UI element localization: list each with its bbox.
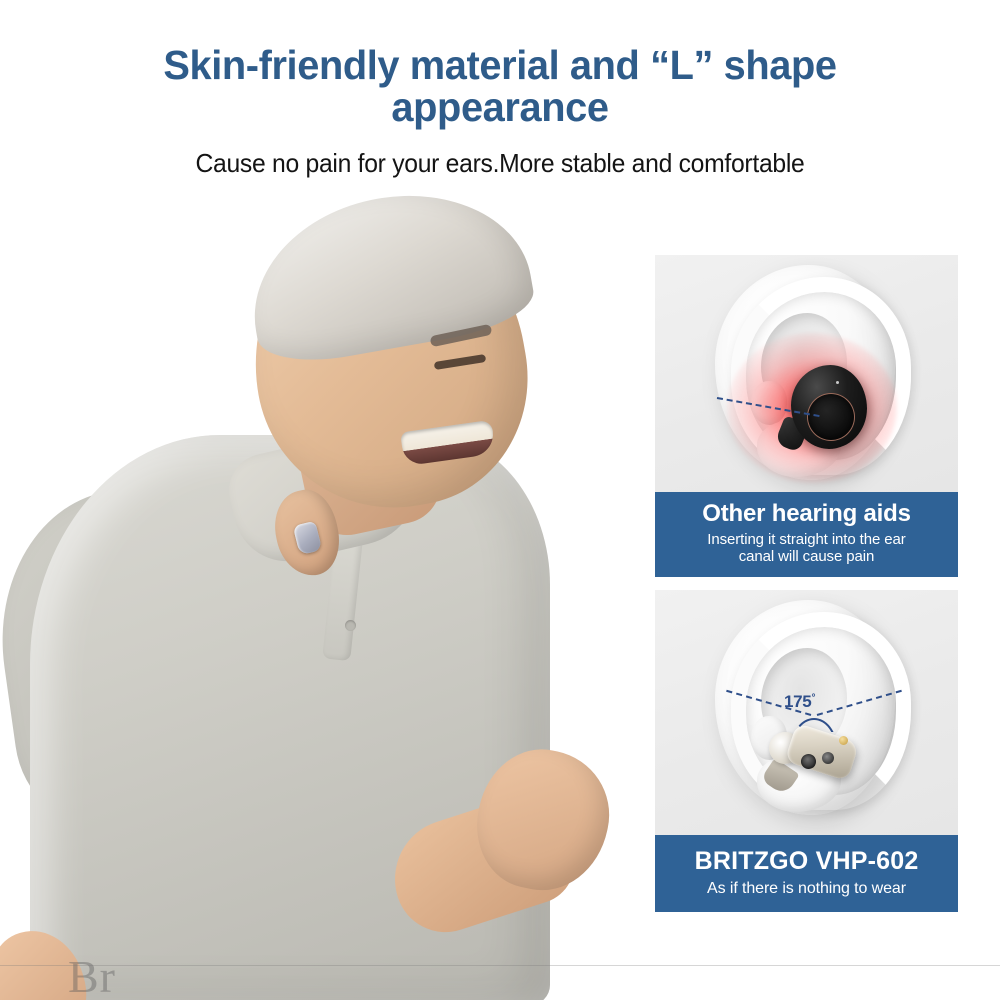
comparison-panel-other: Other hearing aids Inserting it straight… <box>655 255 958 577</box>
header: Skin-friendly material and “L” shape app… <box>0 0 1000 179</box>
page-title: Skin-friendly material and “L” shape app… <box>64 44 937 128</box>
shirt-button <box>345 620 356 631</box>
divider-line <box>0 965 1000 966</box>
panel-title: Other hearing aids <box>655 501 958 528</box>
panel-title: BRITZGO VHP-602 <box>655 847 958 875</box>
angle-label: 175° <box>784 692 815 712</box>
angle-value: 175 <box>784 692 811 711</box>
panel-illustration-britzgo: 175° <box>655 590 958 835</box>
panel-caption-britzgo: BRITZGO VHP-602 As if there is nothing t… <box>655 835 958 912</box>
panel-subtitle-line-1: Inserting it straight into the ear <box>655 531 958 548</box>
page-subtitle: Cause no pain for your ears.More stable … <box>25 148 975 179</box>
ear-model-icon: 175° <box>705 596 910 824</box>
lifestyle-photo <box>0 190 660 1000</box>
earbud-led-dot <box>836 381 839 384</box>
watermark: Br <box>68 950 116 1003</box>
headline-line-2: appearance <box>64 86 937 128</box>
panel-subtitle-line-2: canal will cause pain <box>655 548 958 565</box>
person-figure <box>0 190 660 1000</box>
panel-illustration-other <box>655 255 958 492</box>
ear-model-icon <box>705 261 910 489</box>
comparison-panel-britzgo: 175° BRITZGO VHP-602 As if there is noth… <box>655 590 958 912</box>
hearing-aid-gold-contact <box>839 736 848 745</box>
hearing-aid-button <box>822 752 834 764</box>
earbud-ring <box>807 393 855 441</box>
panel-caption-other: Other hearing aids Inserting it straight… <box>655 492 958 577</box>
degree-symbol: ° <box>811 692 815 703</box>
headline-line-1: Skin-friendly material and “L” shape <box>64 44 937 86</box>
panel-subtitle-line-1: As if there is nothing to wear <box>655 880 958 898</box>
